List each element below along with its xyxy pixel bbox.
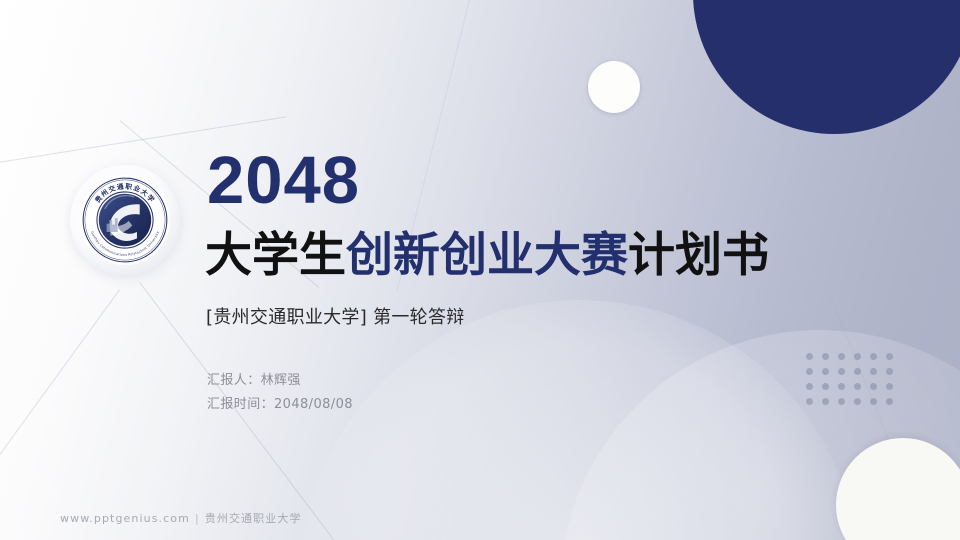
grid-dot	[886, 353, 893, 360]
grid-dot	[854, 383, 861, 390]
grid-dot	[806, 398, 813, 405]
grid-dot	[870, 353, 877, 360]
grid-dot	[886, 398, 893, 405]
grid-dot	[854, 353, 861, 360]
title-segment-0: 大学生	[205, 228, 346, 283]
grid-dot	[806, 383, 813, 390]
grid-dot	[854, 398, 861, 405]
title-segment-2: 计划书	[628, 228, 769, 283]
navy-circle-shape	[693, 0, 960, 134]
grid-dot	[838, 398, 845, 405]
footer-separator: |	[195, 512, 200, 525]
grid-dot	[854, 368, 861, 375]
grid-dot	[838, 353, 845, 360]
slide-year: 2048	[207, 147, 360, 214]
university-emblem-icon: 贵州交通职业大学 Guizhou Communications Polytech…	[79, 174, 171, 266]
slide-meta: 汇报人：林辉强 汇报时间：2048/08/08	[207, 369, 353, 417]
slide-subtitle: [贵州交通职业大学] 第一轮答辩	[206, 303, 465, 329]
footer-website: www.pptgenius.com	[60, 512, 190, 525]
grid-dot	[886, 368, 893, 375]
grid-dot	[838, 368, 845, 375]
grid-dot	[838, 383, 845, 390]
grid-dot	[870, 383, 877, 390]
dot-grid-pattern	[806, 353, 902, 413]
grid-dot	[806, 368, 813, 375]
slide-main-title: 大学生创新创业大赛计划书	[205, 229, 769, 284]
grid-dot	[822, 353, 829, 360]
title-segment-1: 创新创业大赛	[346, 228, 628, 283]
grid-dot	[806, 353, 813, 360]
grid-dot	[822, 368, 829, 375]
grid-dot	[822, 398, 829, 405]
decorative-line-3	[0, 289, 120, 540]
grid-dot	[886, 383, 893, 390]
slide-footer: www.pptgenius.com|贵州交通职业大学	[60, 510, 302, 526]
white-dot-shape	[588, 61, 640, 113]
grid-dot	[870, 368, 877, 375]
meta-presenter: 汇报人：林辉强	[207, 369, 353, 393]
meta-date: 汇报时间：2048/08/08	[207, 393, 353, 417]
university-logo: 贵州交通职业大学 Guizhou Communications Polytech…	[70, 165, 180, 275]
footer-organization: 贵州交通职业大学	[205, 512, 302, 525]
presentation-cover-slide: 贵州交通职业大学 Guizhou Communications Polytech…	[0, 0, 960, 540]
grid-dot	[822, 383, 829, 390]
grid-dot	[870, 398, 877, 405]
